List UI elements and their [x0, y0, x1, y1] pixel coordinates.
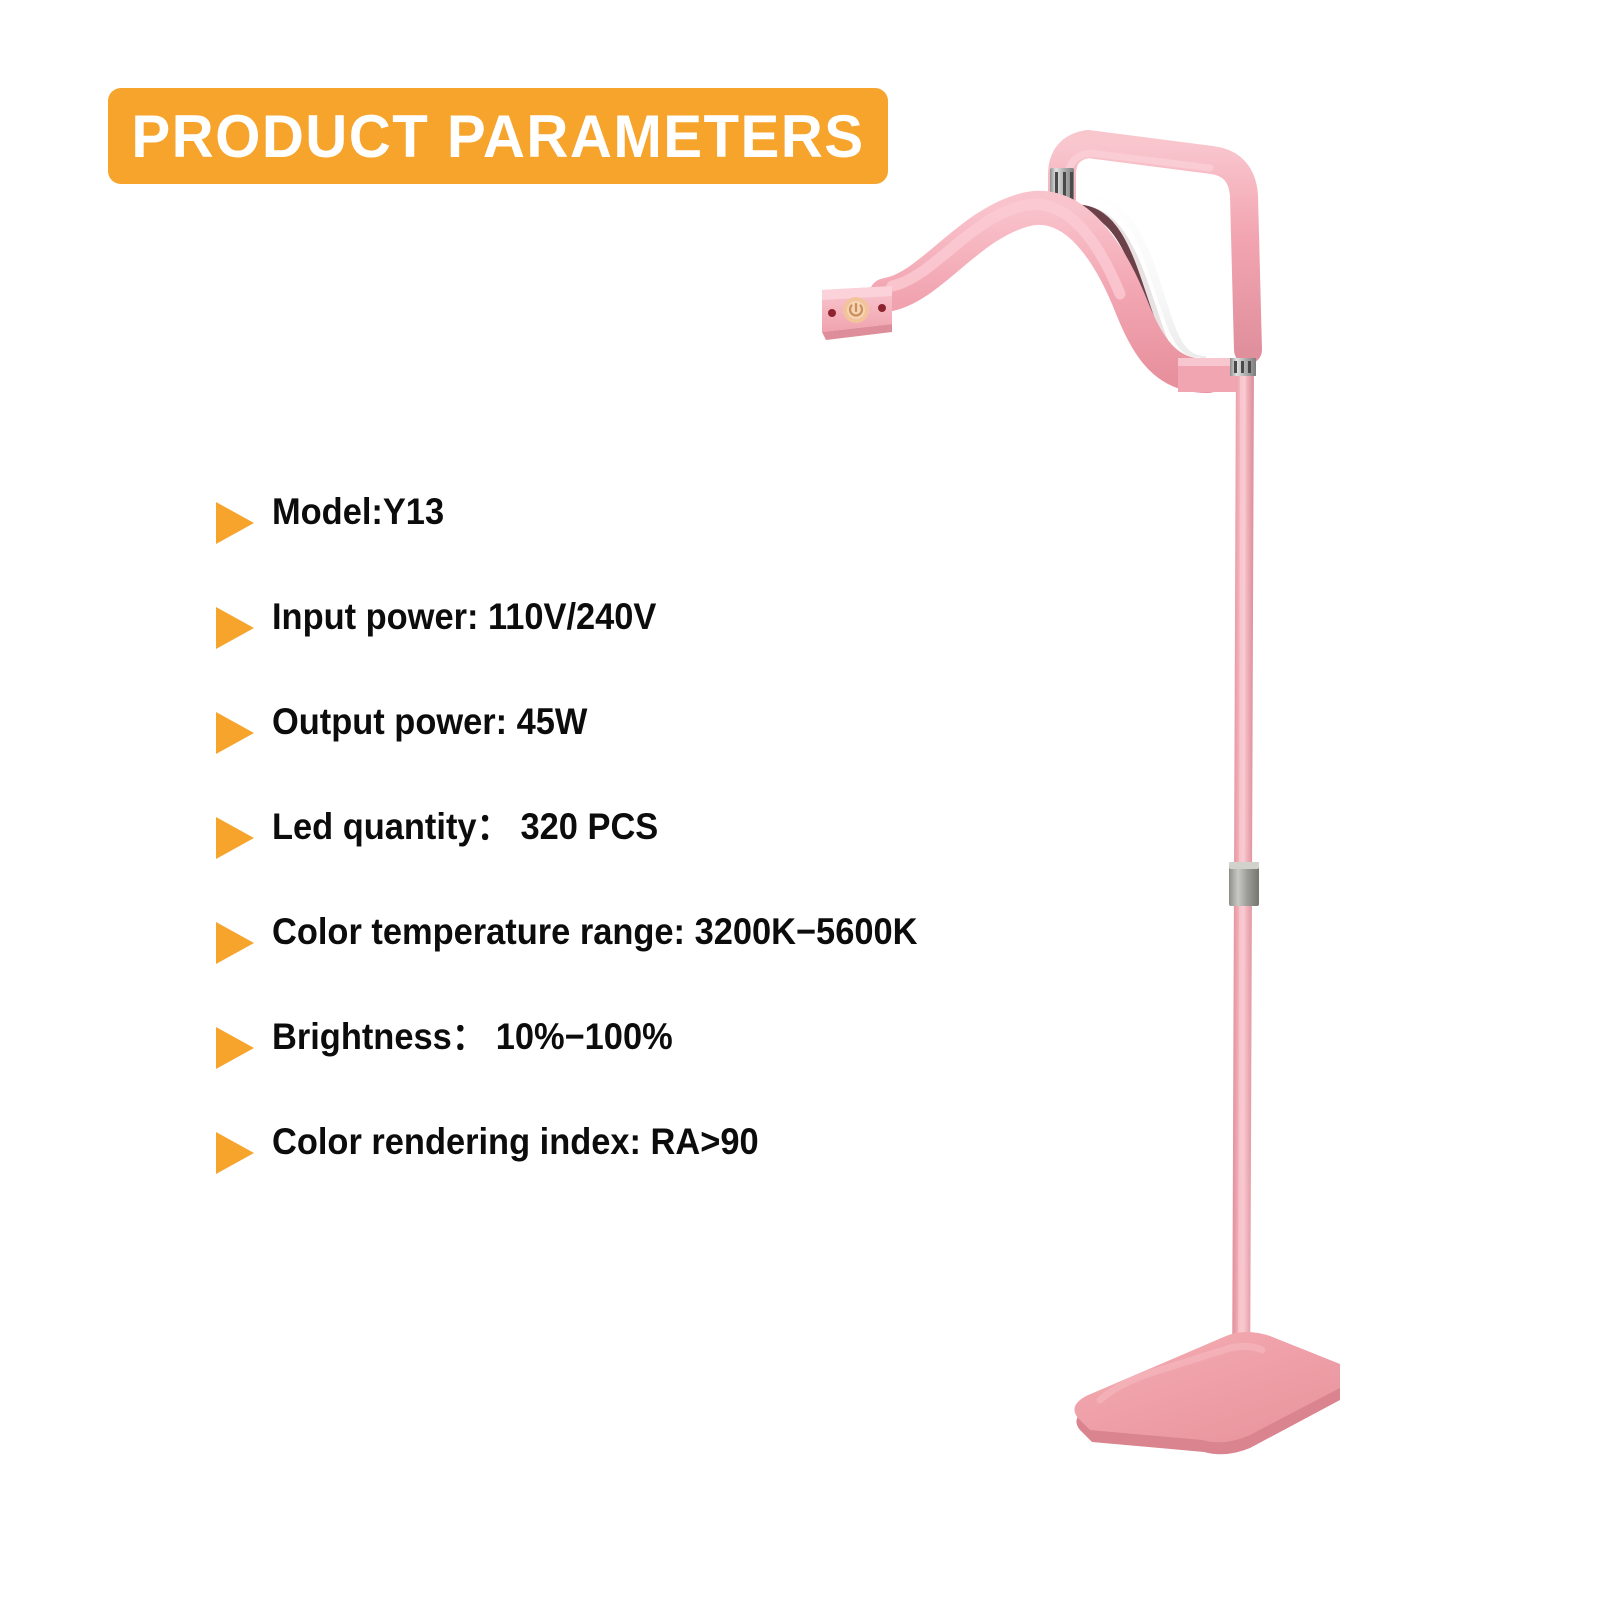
control-box	[822, 286, 892, 340]
base-plate	[1074, 1332, 1340, 1454]
triangle-right-icon	[216, 817, 254, 859]
page-title: PRODUCT PARAMETERS	[131, 102, 864, 171]
spec-label: Color rendering index: RA>90	[272, 1117, 759, 1167]
spec-label: Output power: 45W	[272, 697, 587, 747]
height-adjust-collar	[1229, 862, 1259, 906]
indicator-light-left	[828, 309, 836, 317]
spec-label: Led quantity： 320 PCS	[272, 802, 658, 852]
triangle-right-icon	[216, 1027, 254, 1069]
triangle-right-icon	[216, 712, 254, 754]
triangle-right-icon	[216, 607, 254, 649]
triangle-right-icon	[216, 922, 254, 964]
power-button	[843, 297, 869, 323]
triangle-right-icon	[216, 1132, 254, 1174]
product-image-lamp	[780, 100, 1340, 1540]
triangle-right-icon	[216, 502, 254, 544]
indicator-light-right	[878, 304, 886, 312]
spec-label: Model:Y13	[272, 487, 444, 537]
page-title-banner: PRODUCT PARAMETERS	[108, 88, 888, 184]
chrome-joint-lower	[1230, 358, 1256, 376]
s-curve-head	[886, 204, 1236, 392]
product-parameters-page: PRODUCT PARAMETERS Model:Y13 Input power…	[0, 0, 1600, 1600]
spec-label: Brightness： 10%−100%	[272, 1012, 673, 1062]
spec-label: Input power: 110V/240V	[272, 592, 656, 642]
